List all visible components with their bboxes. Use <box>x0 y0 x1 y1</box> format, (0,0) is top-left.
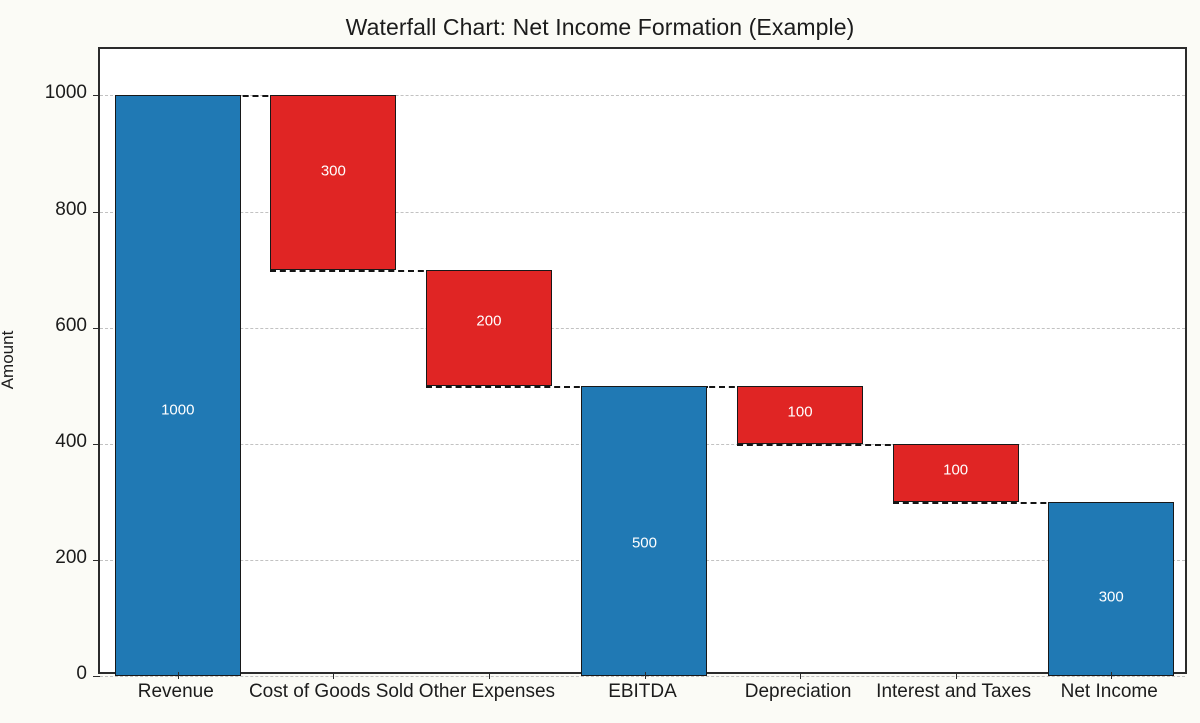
gridline <box>100 676 1185 677</box>
bar-value-label: 200 <box>427 312 551 329</box>
bar-interest-and-taxes[interactable]: 100 <box>893 444 1019 502</box>
y-tick-mark <box>93 95 100 96</box>
y-tick-label: 1000 <box>7 83 87 102</box>
x-tick-mark <box>645 672 646 679</box>
x-tick-mark <box>333 672 334 679</box>
bar-value-label: 300 <box>1049 588 1173 605</box>
bar-value-label: 500 <box>582 535 706 552</box>
y-tick-mark <box>93 328 100 329</box>
x-tick-label-net-income: Net Income <box>1061 681 1158 703</box>
x-tick-mark <box>489 672 490 679</box>
y-tick-mark <box>93 444 100 445</box>
bar-other-expenses[interactable]: 200 <box>426 270 552 386</box>
y-tick-mark <box>93 212 100 213</box>
x-tick-label-revenue: Revenue <box>138 681 214 703</box>
bar-net-income[interactable]: 300 <box>1048 502 1174 676</box>
y-tick-label: 800 <box>7 200 87 219</box>
x-tick-mark <box>178 672 179 679</box>
x-tick-label-ebitda: EBITDA <box>608 681 677 703</box>
gridline <box>100 328 1185 329</box>
bar-depreciation[interactable]: 100 <box>737 386 863 444</box>
y-tick-label: 400 <box>7 432 87 451</box>
chart-title: Waterfall Chart: Net Income Formation (E… <box>0 14 1200 41</box>
bar-ebitda[interactable]: 500 <box>581 386 707 676</box>
y-tick-mark <box>93 676 100 677</box>
x-tick-label-depreciation: Depreciation <box>745 681 852 703</box>
x-tick-mark <box>956 672 957 679</box>
bar-value-label: 100 <box>894 461 1018 478</box>
y-tick-label: 200 <box>7 548 87 567</box>
x-tick-mark <box>800 672 801 679</box>
bar-value-label: 1000 <box>116 401 240 418</box>
bar-value-label: 300 <box>271 163 395 180</box>
y-tick-label: 600 <box>7 316 87 335</box>
x-tick-mark <box>1111 672 1112 679</box>
bar-cost-of-goods-sold[interactable]: 300 <box>270 95 396 269</box>
plot-area: 1000300200500100100300 <box>98 47 1187 674</box>
y-tick-mark <box>93 560 100 561</box>
x-tick-label-cost-of-goods-sold: Cost of Goods Sold <box>249 681 414 703</box>
bar-revenue[interactable]: 1000 <box>115 95 241 676</box>
x-tick-label-interest-and-taxes: Interest and Taxes <box>876 681 1031 703</box>
bar-value-label: 100 <box>738 403 862 420</box>
y-tick-label: 0 <box>7 664 87 683</box>
gridline <box>100 212 1185 213</box>
x-tick-label-other-expenses: Other Expenses <box>419 681 555 703</box>
chart-figure: Waterfall Chart: Net Income Formation (E… <box>0 0 1200 723</box>
